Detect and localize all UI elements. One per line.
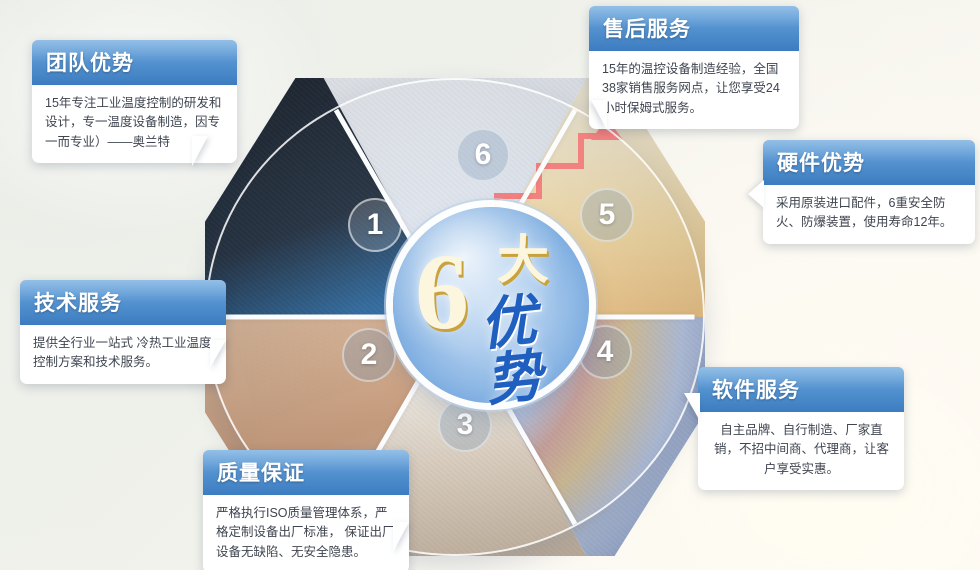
callout-team-advantage[interactable]: 团队优势 15年专注工业温度控制的研发和设计，专一温度设备制造，因专一而专业）—… [32, 40, 237, 163]
center-number: 6 [415, 239, 469, 347]
callout-title-quality-assurance: 质量保证 [203, 450, 409, 495]
callout-body-hardware-advantage: 采用原装进口配件，6重安全防火、防爆装置，使用寿命12年。 [763, 185, 975, 244]
callout-body-after-sales-service: 15年的温控设备制造经验，全国38家销售服务网点，让您享受24小时保姆式服务。 [589, 51, 799, 129]
segment-number-6[interactable]: 6 [456, 128, 510, 182]
callout-title-after-sales-service: 售后服务 [589, 6, 799, 51]
callout-tail [192, 136, 208, 166]
callout-hardware-advantage[interactable]: 硬件优势 采用原装进口配件，6重安全防火、防爆装置，使用寿命12年。 [763, 140, 975, 244]
infographic-canvas: 1 2 3 4 5 6 6 大 优势 团队优势 15年专注工业温度控制的研发和设… [0, 0, 980, 570]
callout-tail [393, 522, 409, 552]
callout-title-technical-service: 技术服务 [20, 280, 226, 325]
center-sub-word: 优势 [477, 288, 594, 410]
callout-tail [748, 180, 764, 208]
callout-tail [591, 100, 607, 130]
callout-technical-service[interactable]: 技术服务 提供全行业一站式 冷热工业温度控制方案和技术服务。 [20, 280, 226, 384]
segment-number-3[interactable]: 3 [438, 398, 492, 452]
callout-after-sales-service[interactable]: 售后服务 15年的温控设备制造经验，全国38家销售服务网点，让您享受24小时保姆… [589, 6, 799, 129]
callout-quality-assurance[interactable]: 质量保证 严格执行ISO质量管理体系，严格定制设备出厂标准， 保证出厂设备无缺陷… [203, 450, 409, 570]
callout-title-hardware-advantage: 硬件优势 [763, 140, 975, 185]
callout-body-quality-assurance: 严格执行ISO质量管理体系，严格定制设备出厂标准， 保证出厂设备无缺陷、无安全隐… [203, 495, 409, 570]
callout-title-software-service: 软件服务 [698, 367, 904, 412]
center-badge: 6 大 优势 [393, 207, 589, 403]
callout-software-service[interactable]: 软件服务 自主品牌、自行制造、厂家直销，不招中间商、代理商，让客户享受实惠。 [698, 367, 904, 490]
callout-body-technical-service: 提供全行业一站式 冷热工业温度控制方案和技术服务。 [20, 325, 226, 384]
center-big-word: 大 [497, 235, 549, 287]
callout-body-software-service: 自主品牌、自行制造、厂家直销，不招中间商、代理商，让客户享受实惠。 [698, 412, 904, 490]
callout-title-team-advantage: 团队优势 [32, 40, 237, 85]
segment-number-2[interactable]: 2 [342, 328, 396, 382]
callout-tail [210, 340, 226, 368]
callout-tail [684, 393, 700, 421]
